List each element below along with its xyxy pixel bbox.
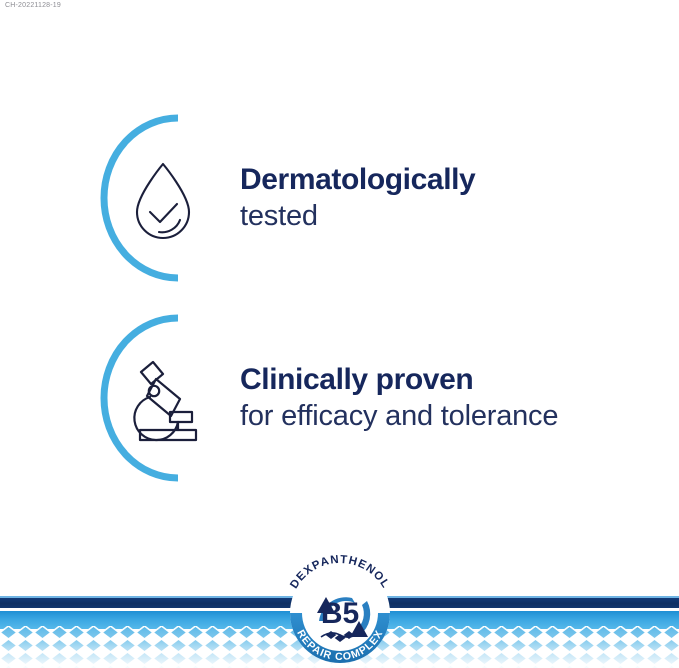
claim-headline: Clinically proven bbox=[240, 365, 558, 395]
claim-badge-microscope bbox=[100, 312, 212, 484]
claim-subline: for efficacy and tolerance bbox=[240, 402, 558, 431]
seal-center-text: B5 bbox=[321, 597, 359, 630]
claim-headline: Dermatologically bbox=[240, 165, 475, 195]
claim-subline: tested bbox=[240, 202, 475, 231]
claim-block-clinically-proven: Clinically proven for efficacy and toler… bbox=[100, 312, 558, 484]
product-claims-panel: CH-20221128-19 Dermatologically tested bbox=[0, 0, 679, 668]
claim-text-group: Clinically proven for efficacy and toler… bbox=[240, 365, 558, 431]
dexpanthenol-b5-repair-complex-seal: DEXPANTHENOL REPAIR COMPLEX B5 bbox=[276, 551, 404, 663]
microscope-icon bbox=[134, 362, 196, 440]
claim-text-group: Dermatologically tested bbox=[240, 165, 475, 231]
claim-block-dermatologically: Dermatologically tested bbox=[100, 112, 475, 284]
claim-badge-droplet bbox=[100, 112, 212, 284]
reference-code: CH-20221128-19 bbox=[5, 2, 61, 9]
water-droplet-check-icon bbox=[137, 164, 189, 238]
arc-decoration bbox=[104, 318, 178, 478]
